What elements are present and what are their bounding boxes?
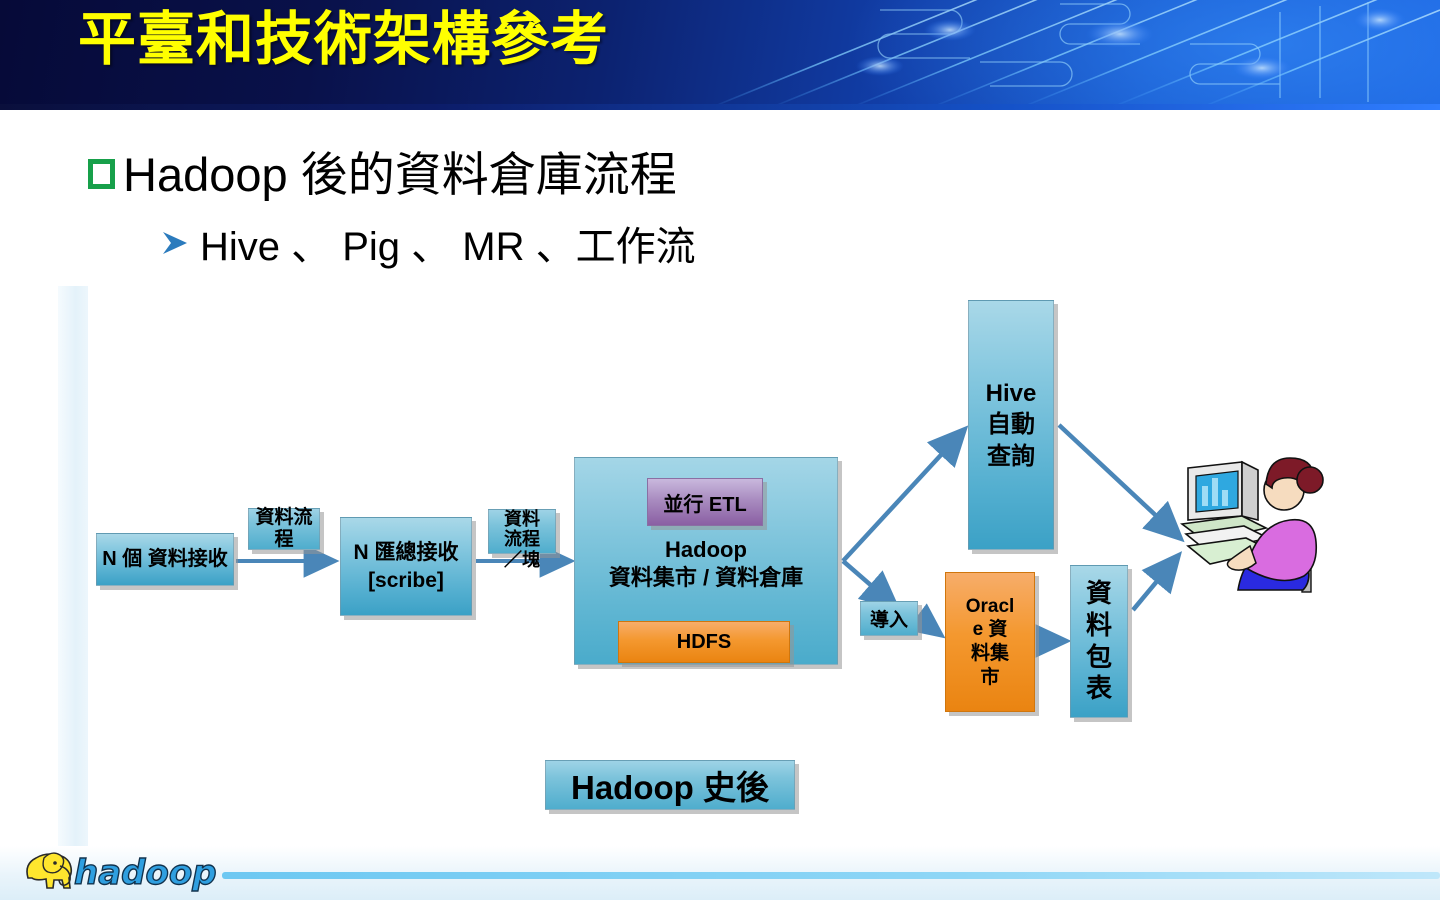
dataflow2-line3: ／塊 (504, 550, 540, 570)
edge-label-import-text: 導入 (870, 605, 908, 632)
elephant-icon (27, 853, 71, 888)
node-report-label: 資 料 包 表 (1086, 578, 1112, 705)
bullet-2-label: Hive 、 Pig 、 MR 、工作流 (200, 214, 696, 272)
node-hive-label: Hive 自動 查詢 (986, 378, 1037, 472)
hadoop-elephant-logo: hadoop (14, 842, 226, 892)
node-hive-auto-query[interactable]: Hive 自動 查詢 (968, 300, 1054, 550)
edge-label-dataflow-1-text: 資料流程 (249, 507, 319, 551)
diagram-caption-label: Hadoop 史後 (571, 761, 769, 809)
node-oracle-label: Oracl e 資 料集 市 (966, 595, 1015, 690)
slide-title: 平臺和技術架構參考 (78, 9, 609, 70)
node-scribe-label: N 匯總接收 [scribe] (354, 539, 459, 594)
edge-label-import: 導入 (860, 601, 918, 636)
hadoop-logo-text: hadoop (74, 853, 217, 892)
square-bullet-icon (88, 159, 115, 189)
node-n-receive[interactable]: N 個 資料接收 (96, 533, 234, 586)
edge-label-dataflow-1: 資料流程 (248, 508, 320, 550)
dataflow2-line2: 流程 (504, 529, 540, 549)
node-parallel-etl[interactable]: 並行 ETL (647, 478, 763, 526)
content-left-band (58, 286, 90, 846)
slide-header: 平臺和技術架構參考 (0, 0, 1440, 110)
node-hadoop-warehouse-label: Hadoop 資料集市 / 資料倉庫 (574, 536, 838, 592)
bullet-item-2: Hive 、 Pig 、 MR 、工作流 (160, 214, 696, 272)
header-underline (0, 104, 1440, 110)
edge-label-dataflow-2-text: 資料 流程 ／塊 (504, 509, 540, 569)
dataflow2-line1: 資料 (504, 509, 540, 529)
bullet-1-label: Hadoop 後的資料倉庫流程 (123, 136, 677, 205)
node-scribe[interactable]: N 匯總接收 [scribe] (340, 517, 472, 616)
node-oracle-datamart[interactable]: Oracl e 資 料集 市 (945, 572, 1035, 712)
analyst-at-computer-image (1180, 450, 1330, 600)
edge-label-dataflow-2: 資料 流程 ／塊 (488, 509, 556, 554)
node-hdfs[interactable]: HDFS (618, 621, 790, 663)
node-report[interactable]: 資 料 包 表 (1070, 565, 1128, 718)
node-hdfs-label: HDFS (677, 631, 731, 654)
diagram-caption: Hadoop 史後 (545, 760, 795, 810)
bullet-item-1: Hadoop 後的資料倉庫流程 (88, 136, 677, 205)
arrow-bullet-icon (160, 230, 190, 256)
footer-accent-line (222, 872, 1440, 879)
node-parallel-etl-label: 並行 ETL (663, 488, 746, 517)
node-n-receive-label: N 個 資料接收 (102, 547, 228, 571)
